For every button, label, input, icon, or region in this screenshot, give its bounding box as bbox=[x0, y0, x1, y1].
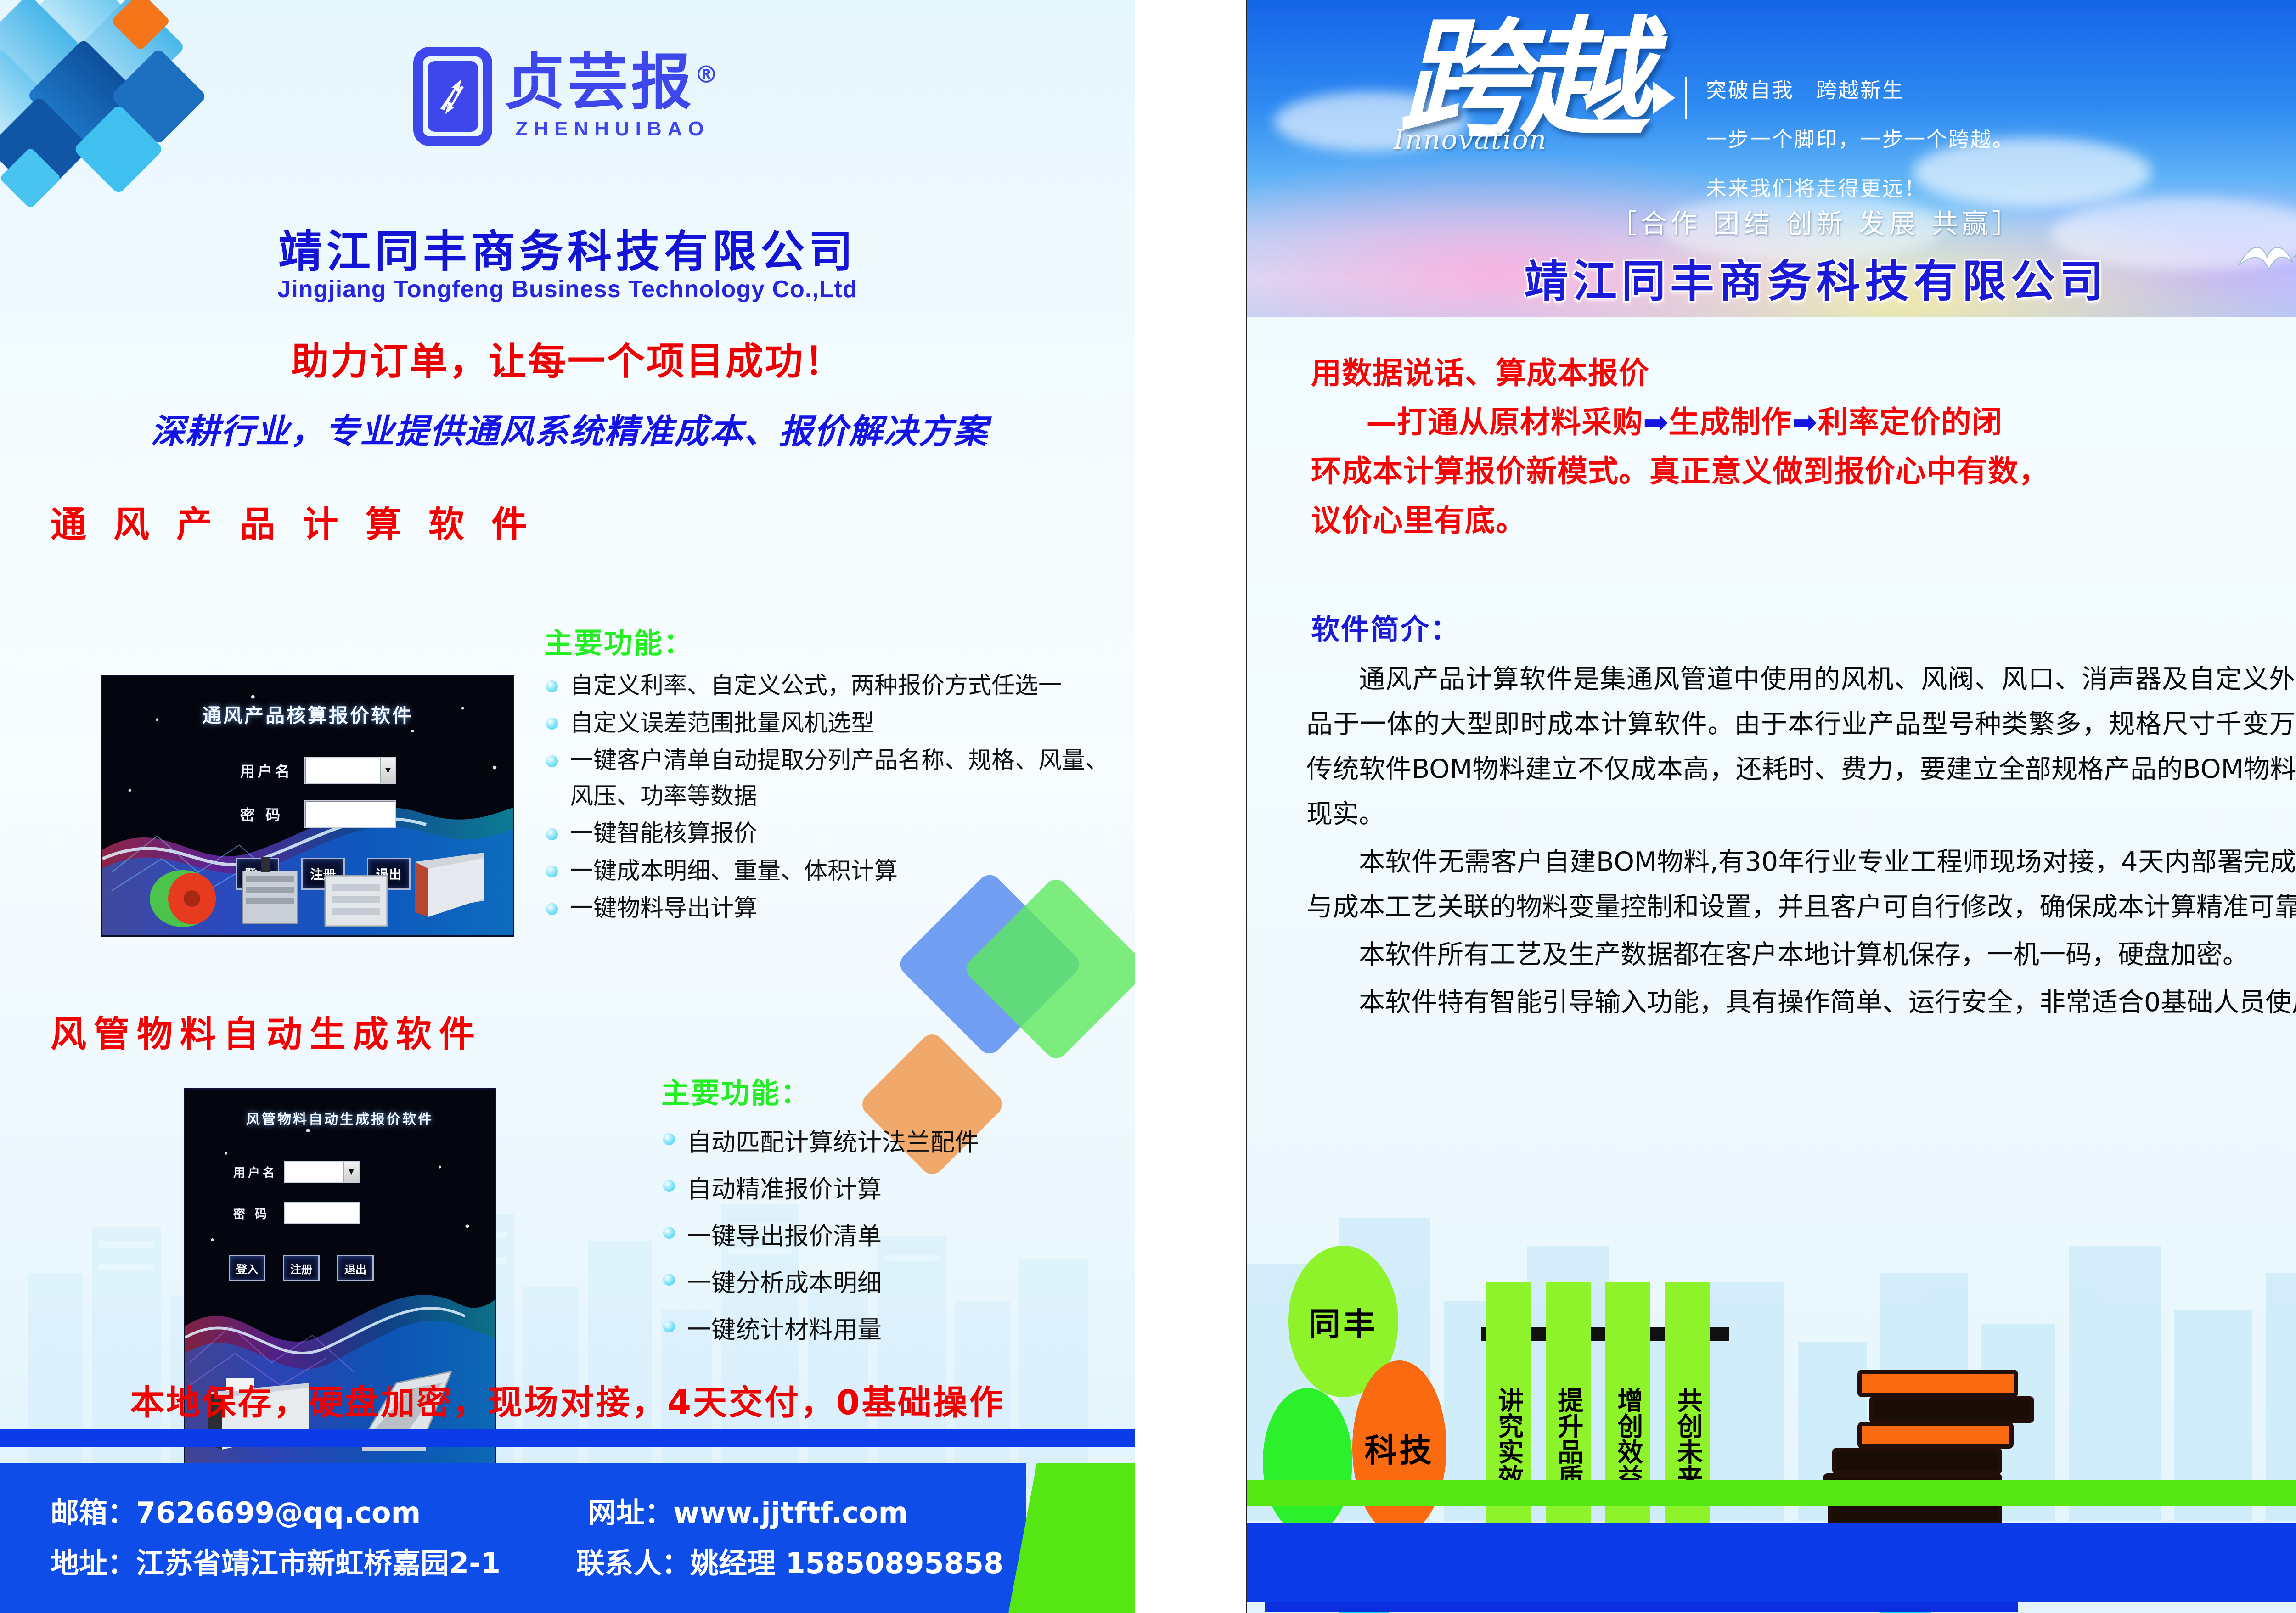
list-item: 一键分析成本明细 bbox=[661, 1261, 1120, 1306]
section2-feature-list: 自动匹配计算统计法兰配件 自动精准报价计算 一键导出报价清单 一键分析成本明细 … bbox=[661, 1120, 1120, 1354]
screenshot1-pass-label: 密 码 bbox=[240, 804, 304, 825]
footer-address: 地址：江苏省靖江市新虹桥嘉园2-1 bbox=[51, 1540, 501, 1581]
footer-green-accent bbox=[1008, 1463, 1135, 1613]
screenshot2-user-label: 用户名 bbox=[233, 1163, 284, 1180]
screenshot1-user-label: 用户名 bbox=[240, 760, 304, 781]
section1-features-head: 主要功能： bbox=[544, 620, 693, 661]
screenshot2-exit-button[interactable]: 退出 bbox=[337, 1255, 374, 1281]
screenshot2-register-button[interactable]: 注册 bbox=[283, 1255, 320, 1281]
list-item: 自定义利率、自定义公式，两种报价方式任选一 bbox=[544, 668, 1109, 704]
book-orange-top bbox=[1857, 1370, 2018, 1397]
footer-website[interactable]: 网址：www.jjtftf.com bbox=[588, 1489, 908, 1531]
bubble-green-plain bbox=[1263, 1388, 1352, 1535]
intro-body: 通风产品计算软件是集通风管道中使用的风机、风阀、风口、消声器及自定义外购产品于一… bbox=[1306, 657, 2296, 1028]
screenshot1-title: 通风产品核算报价软件 bbox=[102, 700, 513, 728]
intro-paragraph: 本软件特有智能引导输入功能，具有操作简单、运行安全，非常适合0基础人员使用。 bbox=[1306, 980, 2296, 1025]
intro-paragraph: 通风产品计算软件是集通风管道中使用的风机、风阀、风口、消声器及自定义外购产品于一… bbox=[1306, 657, 2296, 837]
section2-title: 风管物料自动生成软件 bbox=[51, 1006, 482, 1057]
play-triangle-icon bbox=[1653, 82, 1675, 114]
section1-title: 通 风 产 品 计 算 软 件 bbox=[51, 496, 535, 547]
screenshot2-user-input[interactable]: ▼ bbox=[284, 1161, 360, 1183]
seagull-icon bbox=[2234, 230, 2296, 285]
headline-line-4: 议价心里有底。 bbox=[1311, 496, 2296, 545]
logo-text-cn: 贞芸报® bbox=[504, 52, 721, 113]
company-name-en: Jingjiang Tongfeng Business Technology C… bbox=[0, 275, 1135, 303]
logo-mark-icon bbox=[413, 47, 492, 146]
list-item: 自动精准报价计算 bbox=[661, 1167, 1120, 1212]
screenshot2-pass-label: 密 码 bbox=[233, 1205, 284, 1222]
registered-icon: ® bbox=[694, 61, 721, 89]
arrow-right-icon: ➡ bbox=[1792, 405, 1818, 440]
list-item: 自定义误差范围批量风机选型 bbox=[544, 706, 1109, 742]
banner-line-1: 突破自我 跨越新生 bbox=[1706, 73, 2015, 103]
intro-heading: 软件简介： bbox=[1311, 606, 1460, 647]
sub-slogan: 深耕行业，专业提供通风系统精准成本、报价解决方案 bbox=[28, 404, 1111, 453]
list-item: 一键统计材料用量 bbox=[661, 1308, 1120, 1353]
blue-divider-bar bbox=[0, 1429, 1135, 1447]
bubble-keji: 科技 bbox=[1352, 1360, 1446, 1535]
blue-bottom-strip bbox=[1247, 1523, 2296, 1602]
book-dark-2 bbox=[1832, 1448, 2002, 1474]
logo-text-en: ZHENHUIBAO bbox=[504, 118, 721, 141]
company-name-cn: 靖江同丰商务科技有限公司 bbox=[0, 216, 1135, 280]
intro-paragraph: 本软件无需客户自建BOM物料,有30年行业专业工程师现场对接，4天内部署完成所有… bbox=[1306, 839, 2296, 929]
chevron-down-icon[interactable]: ▼ bbox=[343, 1162, 359, 1182]
chevron-down-icon[interactable]: ▼ bbox=[380, 758, 395, 783]
book-dark-1 bbox=[1869, 1396, 2034, 1423]
banner-line-2: 一步一个脚印，一步一个跨越。 bbox=[1706, 123, 2015, 152]
list-item: 一键智能核算报价 bbox=[544, 816, 1109, 852]
banner-motto: ［合作 团结 创新 发展 共赢］ bbox=[1247, 202, 2296, 241]
section2-features-head: 主要功能： bbox=[661, 1070, 810, 1111]
arrow-right-icon: ➡ bbox=[1643, 405, 1669, 440]
right-banner: 跨越 Innovation 突破自我 跨越新生 一步一个脚印，一步一个跨越。 未… bbox=[1247, 0, 2296, 317]
screenshot2-pass-input[interactable] bbox=[284, 1202, 360, 1224]
screenshot2-login-button[interactable]: 登入 bbox=[229, 1255, 265, 1281]
hero-innovation-label: Innovation bbox=[1394, 124, 1547, 155]
left-footer-contact: 邮箱：7626699@qq.com 网址：www.jjtftf.com 地址：江… bbox=[0, 1463, 1026, 1613]
headline-line-2: —打通从原材料采购➡生成制作➡利率定价的闭 bbox=[1311, 398, 2296, 447]
screenshot2-title: 风管物料自动生成报价软件 bbox=[185, 1108, 495, 1128]
list-item: 一键客户清单自动提取分列产品名称、规格、风量、风压、功率等数据 bbox=[544, 743, 1109, 814]
list-item: 一键成本明细、重量、体积计算 bbox=[544, 854, 1109, 889]
right-panel: 跨越 Innovation 突破自我 跨越新生 一步一个脚印，一步一个跨越。 未… bbox=[1246, 0, 2296, 1613]
software-screenshot-1: 通风产品核算报价软件 用户名 ▼ 密 码 登入 注册 退出 bbox=[101, 675, 514, 937]
banner-line-3: 未来我们将走得更远！ bbox=[1706, 172, 2015, 202]
brand-logo: 贞芸报® ZHENHUIBAO bbox=[413, 28, 794, 165]
main-slogan: 助力订单，让每一个项目成功！ bbox=[0, 331, 1135, 385]
footer-contact-person[interactable]: 联系人：姚经理 15850895858 bbox=[576, 1540, 1003, 1581]
footer-email[interactable]: 邮箱：7626699@qq.com bbox=[51, 1489, 421, 1531]
left-panel: 贞芸报® ZHENHUIBAO 靖江同丰商务科技有限公司 Jingjiang T… bbox=[0, 0, 1135, 1613]
green-bottom-strip bbox=[1247, 1480, 2296, 1506]
flyer-page: 贞芸报® ZHENHUIBAO 靖江同丰商务科技有限公司 Jingjiang T… bbox=[0, 0, 2296, 1613]
screenshot1-pass-input[interactable] bbox=[304, 800, 396, 828]
right-headline: 用数据说话、算成本报价 —打通从原材料采购➡生成制作➡利率定价的闭 环成本计算报… bbox=[1311, 349, 2296, 545]
left-highlight-line: 本地保存，硬盘加密，现场对接，4天交付，0基础操作 bbox=[0, 1375, 1135, 1424]
headline-line-1: 用数据说话、算成本报价 bbox=[1311, 349, 2296, 398]
headline-line-3: 环成本计算报价新模式。真正意义做到报价心中有数， bbox=[1311, 447, 2296, 496]
intro-paragraph: 本软件所有工艺及生产数据都在客户本地计算机保存，一机一码，硬盘加密。 bbox=[1306, 932, 2296, 977]
vertical-rule bbox=[1685, 77, 1687, 119]
product-images-1 bbox=[144, 830, 493, 931]
hero-calligraphy: 跨越 bbox=[1398, 18, 1655, 211]
banner-taglines: 突破自我 跨越新生 一步一个脚印，一步一个跨越。 未来我们将走得更远！ bbox=[1706, 73, 2015, 221]
section1-feature-list: 自定义利率、自定义公式，两种报价方式任选一 自定义误差范围批量风机选型 一键客户… bbox=[544, 668, 1109, 928]
list-item: 一键导出报价清单 bbox=[661, 1214, 1120, 1259]
diamond-mosaic-decoration bbox=[0, 0, 271, 202]
banner-company-name: 靖江同丰商务科技有限公司 bbox=[1247, 246, 2296, 309]
book-orange-2 bbox=[1857, 1422, 2014, 1449]
screenshot1-user-input[interactable]: ▼ bbox=[304, 757, 396, 784]
list-item: 自动匹配计算统计法兰配件 bbox=[661, 1120, 1120, 1165]
